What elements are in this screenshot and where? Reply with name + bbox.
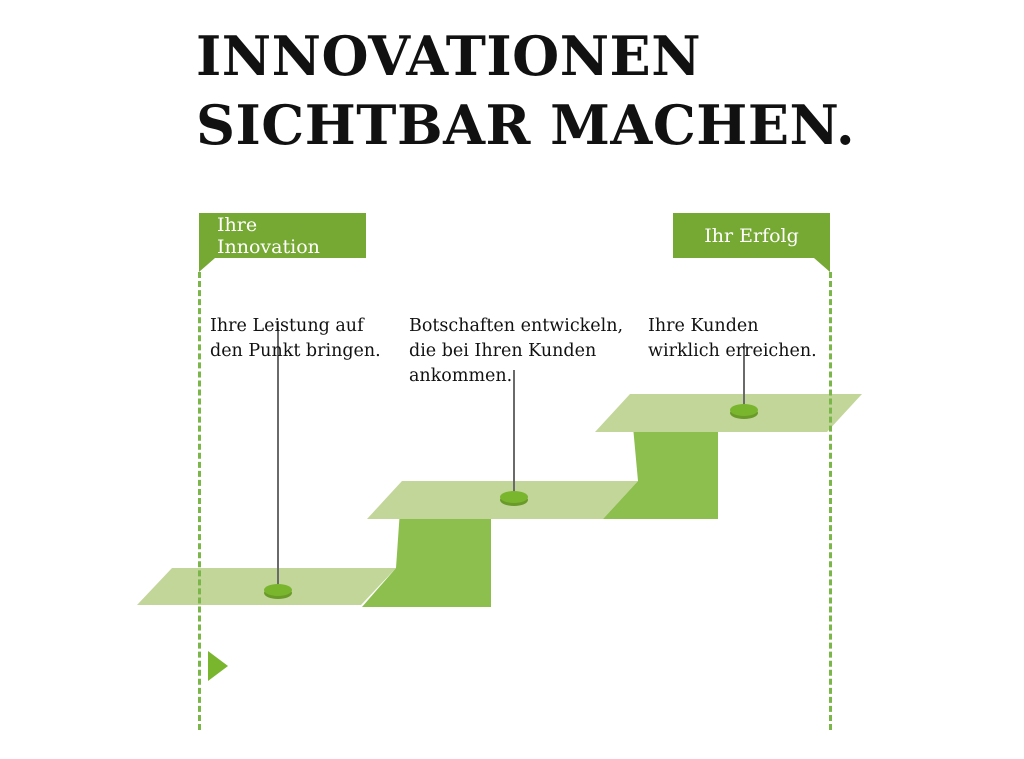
badge-erfolg-tail-icon bbox=[814, 258, 830, 272]
step-1-tread-iso bbox=[137, 568, 396, 605]
callout-step-1: Ihre Leistung auf den Punkt bringen. bbox=[210, 314, 400, 364]
infographic-canvas: INNOVATIONEN SICHTBAR MACHEN. bbox=[0, 0, 1024, 759]
riser-a bbox=[362, 481, 491, 607]
badge-innovation-label: Ihre Innovation bbox=[217, 214, 348, 258]
left-guide-line bbox=[198, 272, 201, 730]
step-3-tread bbox=[595, 394, 862, 432]
pin-marker-3-top bbox=[730, 404, 758, 416]
pin-marker-2-top bbox=[500, 491, 528, 503]
badge-erfolg[interactable]: Ihr Erfolg bbox=[673, 213, 830, 258]
pin-marker-1 bbox=[264, 587, 292, 599]
pin-marker-2 bbox=[500, 494, 528, 506]
badge-erfolg-label: Ihr Erfolg bbox=[704, 225, 799, 247]
pin-marker-3 bbox=[730, 407, 758, 419]
badge-innovation[interactable]: Ihre Innovation bbox=[199, 213, 366, 258]
callout-step-2: Botschaften entwickeln, die bei Ihren Ku… bbox=[409, 314, 649, 389]
badge-innovation-tail-icon bbox=[199, 258, 215, 272]
step-2-tread bbox=[367, 481, 638, 519]
play-arrow-icon bbox=[208, 651, 228, 681]
page-title: INNOVATIONEN SICHTBAR MACHEN. bbox=[196, 22, 956, 160]
callout-step-3: Ihre Kunden wirklich erreichen. bbox=[648, 314, 848, 364]
pin-marker-1-top bbox=[264, 584, 292, 596]
riser-b bbox=[603, 394, 718, 519]
